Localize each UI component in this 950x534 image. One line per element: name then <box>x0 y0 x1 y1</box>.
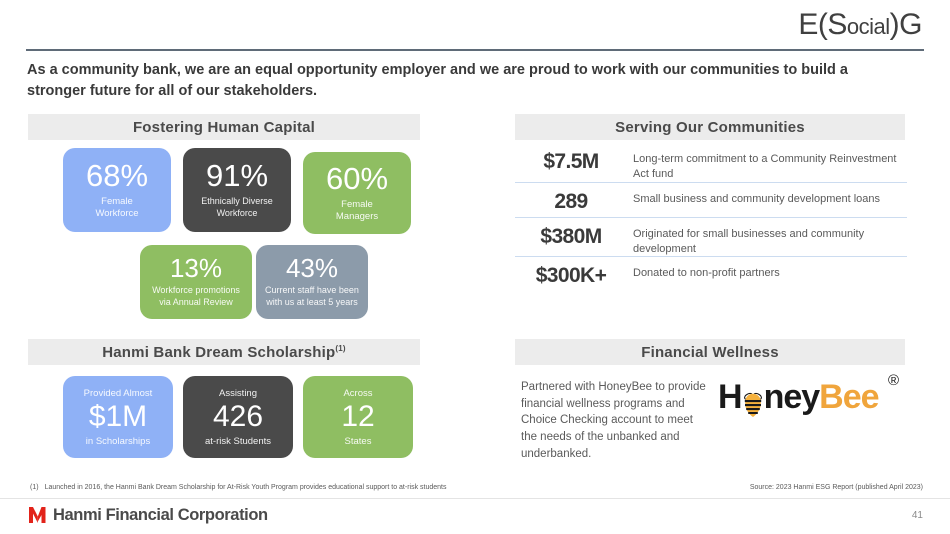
list-item: $7.5M Long-term commitment to a Communit… <box>515 143 907 182</box>
community-metric-description: Long-term commitment to a Community Rein… <box>627 151 907 182</box>
scholarship-card-value: $1M <box>89 402 147 432</box>
stat-label-line1: Ethnically Diverse <box>201 196 273 206</box>
stat-value: 60% <box>326 163 388 194</box>
scholarship-card-bottom-label: at-risk Students <box>205 436 271 447</box>
hanmi-logo-icon <box>28 505 48 525</box>
list-item: $380M Originated for small businesses an… <box>515 217 907 257</box>
stat-label-line2: Workforce <box>95 208 138 219</box>
section-header-dream-scholarship: Hanmi Bank Dream Scholarship(1) <box>28 339 420 365</box>
section-header-serving-our-communities: Serving Our Communities <box>515 114 905 140</box>
stat-value: 43% <box>286 255 338 281</box>
honeybee-wordmark: H neyBee <box>718 380 879 414</box>
scholarship-card-students: Assisting 426 at-risk Students <box>183 376 293 458</box>
honeybee-letters-ney: ney <box>764 378 820 416</box>
financial-wellness-body: Partnered with HoneyBee to provide finan… <box>521 379 706 462</box>
list-item: $300K+ Donated to non-profit partners <box>515 256 907 291</box>
scholarship-card-top-label: Assisting <box>219 388 257 399</box>
scholarship-card-value: 12 <box>341 402 374 432</box>
registered-trademark-icon: ® <box>888 372 899 389</box>
stat-card-staff-tenure: 43% Current staff have been with us at l… <box>256 245 368 319</box>
section-header-financial-wellness: Financial Wellness <box>515 339 905 365</box>
community-metric-description: Originated for small businesses and comm… <box>627 226 907 257</box>
scholarship-card-top-label: Provided Almost <box>84 388 153 399</box>
community-metric-value: $300K+ <box>515 265 627 286</box>
honeybee-letters-bee: Bee <box>819 378 878 416</box>
stat-label-line2: Managers <box>336 211 378 222</box>
community-metric-value: 289 <box>515 191 627 212</box>
community-metrics-list: $7.5M Long-term commitment to a Communit… <box>515 143 907 291</box>
stat-label-line2: with us at least 5 years <box>266 297 358 307</box>
page-title-small: ocial <box>847 14 890 39</box>
scholarship-card-bottom-label: in Scholarships <box>86 436 150 447</box>
stat-card-female-workforce: 68% Female Workforce <box>63 148 171 232</box>
stat-label: Ethnically Diverse Workforce <box>201 196 273 219</box>
intro-paragraph: As a community bank, we are an equal opp… <box>27 60 907 102</box>
scholarship-card-value: 426 <box>213 402 263 432</box>
community-metric-value: $380M <box>515 226 627 247</box>
stat-label-line1: Female <box>101 196 133 207</box>
stat-value: 13% <box>170 255 222 281</box>
stat-label: Female Managers <box>336 199 378 224</box>
footnote-text: Launched in 2016, the Hanmi Bank Dream S… <box>45 484 447 491</box>
scholarship-card-amount: Provided Almost $1M in Scholarships <box>63 376 173 458</box>
footnote: (1)Launched in 2016, the Hanmi Bank Drea… <box>30 484 447 491</box>
section-title-scholarship-text: Hanmi Bank Dream Scholarship <box>102 344 335 361</box>
list-item: 289 Small business and community develop… <box>515 182 907 217</box>
stat-label-line1: Workforce promotions <box>152 285 240 295</box>
stat-label: Workforce promotions via Annual Review <box>152 285 240 308</box>
section-header-fostering-human-capital: Fostering Human Capital <box>28 114 420 140</box>
page-title-prefix: E(S <box>798 8 847 41</box>
brand-lockup: Hanmi Financial Corporation <box>28 505 268 525</box>
page-title: E(Social)G <box>798 8 922 42</box>
stat-label-line1: Current staff have been <box>265 285 359 295</box>
scholarship-card-states: Across 12 States <box>303 376 413 458</box>
footnote-marker: (1) <box>30 484 39 491</box>
scholarship-card-top-label: Across <box>343 388 372 399</box>
section-title-scholarship: Hanmi Bank Dream Scholarship(1) <box>102 344 346 361</box>
stat-label-line1: Female <box>341 199 373 210</box>
community-metric-description: Donated to non-profit partners <box>627 265 907 281</box>
scholarship-card-bottom-label: States <box>345 436 372 447</box>
slide-header: E(Social)G <box>0 0 950 52</box>
honeybee-logo: H neyBee ® <box>718 372 913 428</box>
community-metric-description: Small business and community development… <box>627 191 907 207</box>
stat-label: Current staff have been with us at least… <box>265 285 359 308</box>
community-metric-value: $7.5M <box>515 151 627 172</box>
stat-label-line2: via Annual Review <box>159 297 233 307</box>
page-number: 41 <box>912 510 923 521</box>
stat-value: 91% <box>206 160 268 191</box>
stat-label-line2: Workforce <box>217 208 258 218</box>
section-title-serving: Serving Our Communities <box>615 119 805 136</box>
stat-card-workforce-promotions: 13% Workforce promotions via Annual Revi… <box>140 245 252 319</box>
stat-card-female-managers: 60% Female Managers <box>303 152 411 234</box>
stat-label: Female Workforce <box>95 196 138 221</box>
header-divider-rule <box>26 49 924 51</box>
section-title-fostering: Fostering Human Capital <box>133 119 315 136</box>
honeybee-letter-h: H <box>718 378 742 416</box>
stat-card-ethnically-diverse-workforce: 91% Ethnically Diverse Workforce <box>183 148 291 232</box>
brand-name: Hanmi Financial Corporation <box>53 506 268 525</box>
page-title-suffix: )G <box>890 8 922 41</box>
section-title-wellness: Financial Wellness <box>641 344 779 361</box>
source-note: Source: 2023 Hanmi ESG Report (published… <box>750 484 923 491</box>
section-title-footnote-marker: (1) <box>335 344 345 353</box>
stat-value: 68% <box>86 160 148 191</box>
